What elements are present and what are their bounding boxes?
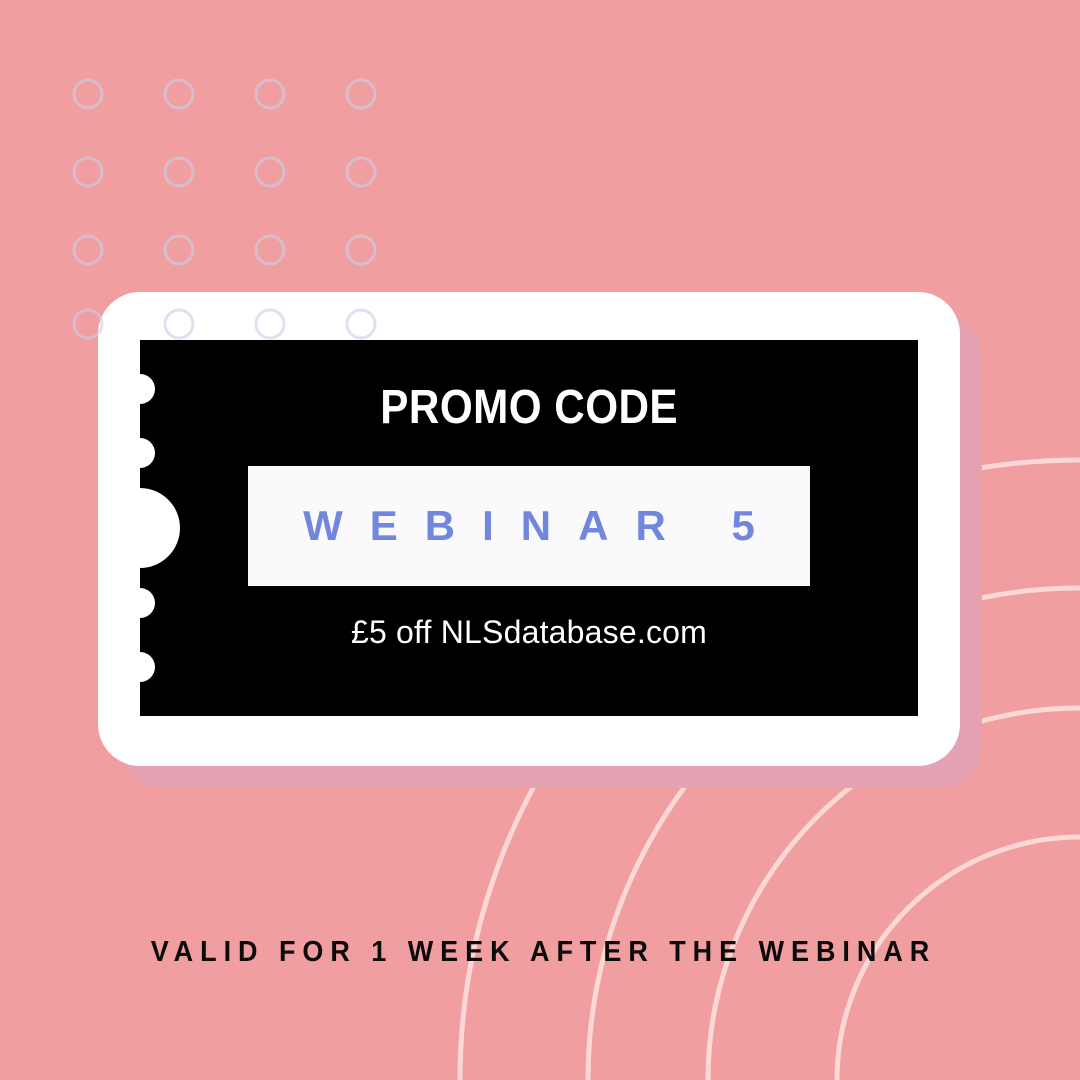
promo-code-heading: PROMO CODE [380,384,678,432]
promo-poster: PROMO CODE WEBINAR 5 £5 off NLSdatabase.… [0,0,1080,1080]
grid-circle-icon [74,236,102,264]
validity-caption: VALID FOR 1 WEEK AFTER THE WEBINAR [38,938,1042,967]
grid-circle-icon [347,80,375,108]
promo-ticket: PROMO CODE WEBINAR 5 £5 off NLSdatabase.… [140,340,918,716]
grid-circle-icon [347,158,375,186]
grid-circle-icon [165,80,193,108]
grid-circle-icon [74,80,102,108]
grid-circle-icon [74,158,102,186]
grid-circle-icon [256,158,284,186]
ticket-content: PROMO CODE WEBINAR 5 £5 off NLSdatabase.… [140,340,918,716]
grid-circle-icon [165,158,193,186]
promo-code-value: WEBINAR 5 [276,505,782,547]
grid-circle-icon [256,236,284,264]
grid-circle-icon [256,80,284,108]
promo-code-box[interactable]: WEBINAR 5 [248,466,810,586]
grid-circle-icon [165,236,193,264]
grid-circle-icon [347,236,375,264]
promo-offer-subtitle: £5 off NLSdatabase.com [351,616,707,648]
